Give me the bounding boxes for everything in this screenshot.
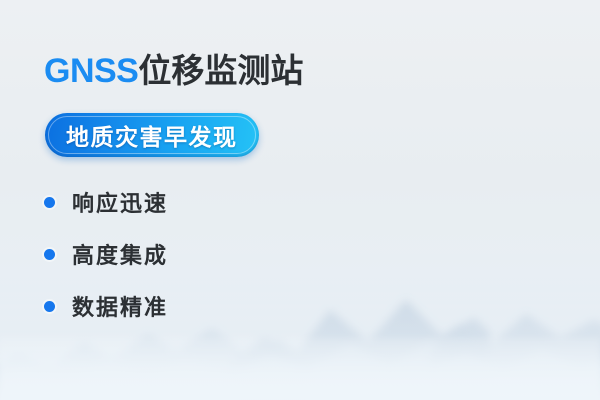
list-item: 响应迅速 xyxy=(44,186,168,218)
list-item-label: 响应迅速 xyxy=(72,186,168,218)
bullet-dot-icon xyxy=(44,301,55,312)
page-title: GNSS位移监测站 xyxy=(44,54,303,88)
list-item: 数据精准 xyxy=(44,290,168,322)
bullet-dot-icon xyxy=(44,197,55,208)
title-brand: GNSS xyxy=(44,52,138,90)
gnss-monitoring-station-illustration: 环境监测站 xyxy=(300,0,600,400)
bullet-dot-icon xyxy=(44,249,55,260)
list-item-label: 高度集成 xyxy=(72,238,168,270)
gnss-product-banner: 环境监测站 GNSS位移监测站 地质灾害早发现 响应迅速 高度集成 数据精准 xyxy=(0,0,600,400)
status-badge-label: 地质灾害早发现 xyxy=(66,118,238,152)
list-item: 高度集成 xyxy=(44,238,168,270)
headline-block: GNSS位移监测站 地质灾害早发现 响应迅速 高度集成 数据精准 xyxy=(0,0,340,400)
list-item-label: 数据精准 xyxy=(72,290,168,322)
title-rest: 位移监测站 xyxy=(138,52,303,89)
status-badge: 地质灾害早发现 xyxy=(45,113,259,157)
